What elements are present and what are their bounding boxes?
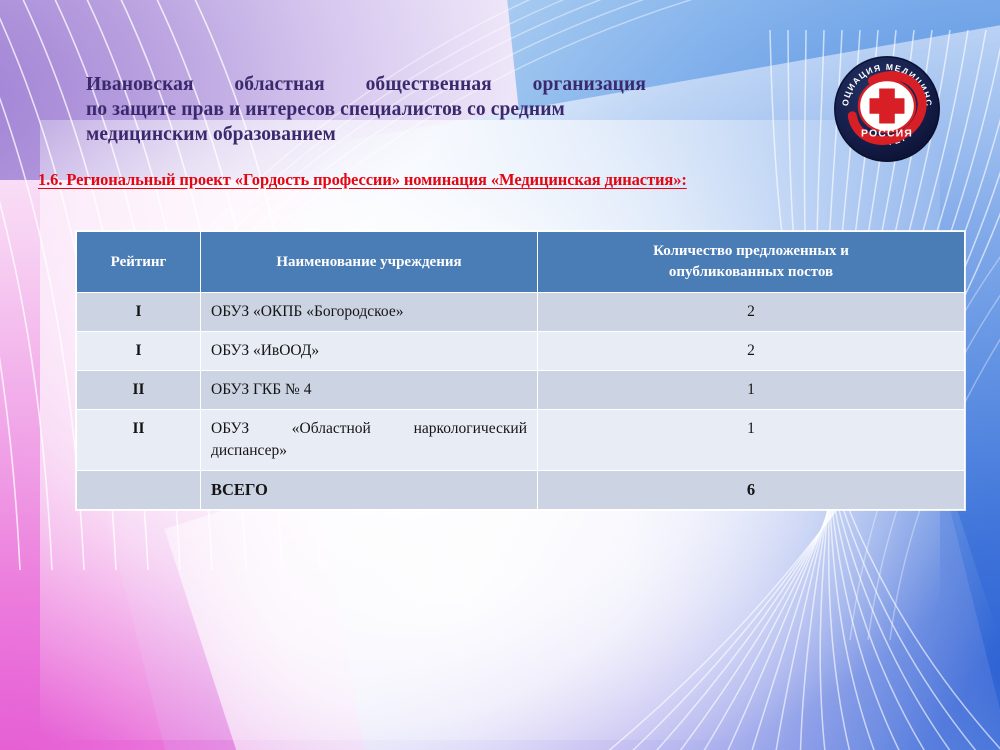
cell-total-count: 6 [538, 471, 965, 510]
red-cross-emblem-icon: АССОЦИАЦИЯ МЕДИЦИНСКИХ СЕСТЕР РОССИЯ [833, 55, 941, 163]
cell-count: 2 [538, 293, 965, 332]
table-header-row: Рейтинг Наименование учреждения Количест… [77, 232, 965, 293]
slide: Ивановская областная общественная органи… [0, 0, 1000, 750]
section-title: 1.6. Региональный проект «Гордость профе… [38, 170, 687, 190]
table-body: I ОБУЗ «ОКПБ «Богородское» 2 I ОБУЗ «ИвО… [77, 293, 965, 510]
cell-institution: ОБУЗ «ИвООД» [201, 332, 538, 371]
column-header-post-count: Количество предложенных и опубликованных… [538, 232, 965, 293]
cell-count: 2 [538, 332, 965, 371]
cell-institution: ОБУЗ «Областной наркологический диспансе… [201, 410, 538, 471]
association-logo: АССОЦИАЦИЯ МЕДИЦИНСКИХ СЕСТЕР РОССИЯ [833, 55, 941, 163]
cell-institution: ОБУЗ ГКБ № 4 [201, 371, 538, 410]
cell-count: 1 [538, 410, 965, 471]
cell-rank: II [77, 371, 201, 410]
cell-institution: ОБУЗ «ОКПБ «Богородское» [201, 293, 538, 332]
page-title-line-1: Ивановская областная общественная органи… [86, 72, 646, 97]
table-row: II ОБУЗ ГКБ № 4 1 [77, 371, 965, 410]
column-header-post-count-line1: Количество предложенных и [653, 243, 849, 259]
column-header-institution: Наименование учреждения [201, 232, 538, 293]
table-total-row: ВСЕГО 6 [77, 471, 965, 510]
page-title: Ивановская областная общественная органи… [86, 72, 646, 147]
table-row: I ОБУЗ «ОКПБ «Богородское» 2 [77, 293, 965, 332]
table-row: II ОБУЗ «Областной наркологический диспа… [77, 410, 965, 471]
table-row: I ОБУЗ «ИвООД» 2 [77, 332, 965, 371]
page-title-line-2: по защите прав и интересов специалистов … [86, 97, 646, 122]
column-header-rank: Рейтинг [77, 232, 201, 293]
ratings-table: Рейтинг Наименование учреждения Количест… [76, 231, 965, 510]
cell-rank: I [77, 332, 201, 371]
page-title-line-3: медицинским образованием [86, 122, 646, 147]
logo-country-label: РОССИЯ [861, 128, 913, 140]
column-header-post-count-line2: опубликованных постов [669, 264, 833, 280]
table-head: Рейтинг Наименование учреждения Количест… [77, 232, 965, 293]
cell-total-rank [77, 471, 201, 510]
slide-content: Ивановская областная общественная органи… [0, 0, 1000, 750]
cell-count: 1 [538, 371, 965, 410]
cell-total-label: ВСЕГО [201, 471, 538, 510]
cell-rank: II [77, 410, 201, 471]
cell-rank: I [77, 293, 201, 332]
